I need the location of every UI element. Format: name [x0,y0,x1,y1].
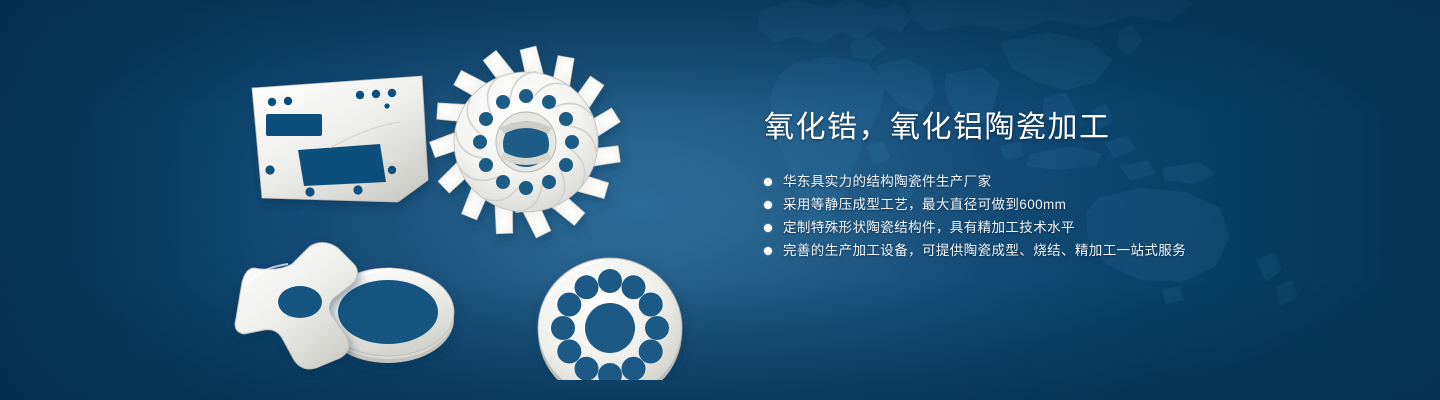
product-photo-group [230,40,730,380]
list-item: 采用等静压成型工艺，最大直径可做到600mm [764,193,1384,216]
bullet-dot-icon [764,201,772,209]
ceramic-impeller-wheel [428,46,623,240]
ceramic-machined-plate [252,76,428,202]
list-item: 完善的生产加工设备，可提供陶瓷成型、烧结、精加工一站式服务 [764,239,1384,262]
promo-banner: 氧化锆，氧化铝陶瓷加工 华东具实力的结构陶瓷件生产厂家 采用等静压成型工艺，最大… [0,0,1440,400]
bullet-dot-icon [764,247,772,255]
ceramic-perforated-disc [538,258,682,380]
bullet-dot-icon [764,224,772,232]
list-item-label: 采用等静压成型工艺，最大直径可做到600mm [783,193,1066,216]
list-item: 定制特殊形状陶瓷结构件，具有精加工技术水平 [764,216,1384,239]
banner-feature-list: 华东具实力的结构陶瓷件生产厂家 采用等静压成型工艺，最大直径可做到600mm 定… [764,170,1384,262]
list-item-label: 完善的生产加工设备，可提供陶瓷成型、烧结、精加工一站式服务 [783,239,1186,262]
list-item-label: 华东具实力的结构陶瓷件生产厂家 [783,170,992,193]
list-item: 华东具实力的结构陶瓷件生产厂家 [764,170,1384,193]
banner-text-block: 氧化锆，氧化铝陶瓷加工 华东具实力的结构陶瓷件生产厂家 采用等静压成型工艺，最大… [764,108,1384,262]
list-item-label: 定制特殊形状陶瓷结构件，具有精加工技术水平 [783,216,1075,239]
banner-title: 氧化锆，氧化铝陶瓷加工 [764,108,1384,148]
bullet-dot-icon [764,178,772,186]
